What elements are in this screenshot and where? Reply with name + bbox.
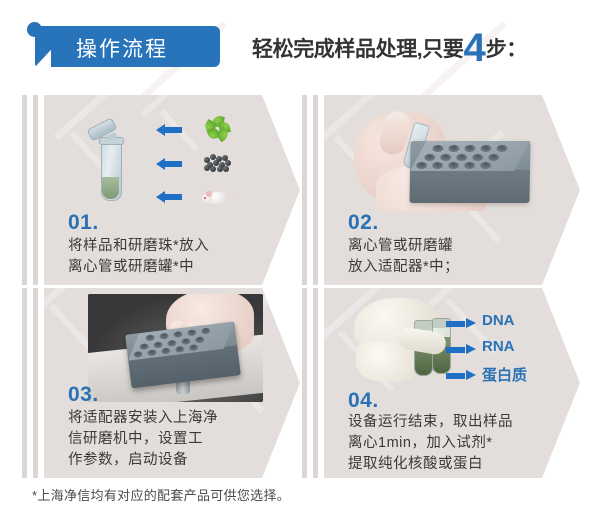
header-subtitle: 轻松完成样品处理,只要4步： — [252, 33, 527, 63]
step-card-01: 01. 将样品和研磨珠*放入 离心管或研磨罐*中 — [22, 95, 300, 285]
right-arrow-icon — [446, 370, 476, 381]
infographic-page: 操作流程 轻松完成样品处理,只要4步： — [0, 0, 600, 525]
card-accent-bar — [302, 95, 307, 285]
output-label-rna: RNA — [482, 338, 515, 355]
step-description: 设备运行结束，取出样品 离心1min，加入试剂* 提取纯化核酸或蛋白 — [348, 412, 513, 475]
grinding-beads-icon — [202, 152, 232, 172]
output-label-dna: DNA — [482, 312, 515, 329]
step-description: 将样品和研磨珠*放入 离心管或研磨罐*中 — [68, 236, 209, 278]
mouse-eye — [204, 197, 206, 199]
card-body: DNA RNA 蛋白质 04. 设备运行结束，取出样品 离心1min，加入试剂*… — [324, 288, 580, 478]
card-body: 01. 将样品和研磨珠*放入 离心管或研磨罐*中 — [44, 95, 300, 285]
header-banner-label: 操作流程 — [76, 33, 216, 63]
step-line: 将样品和研磨珠*放入 — [68, 236, 209, 257]
output-label-protein: 蛋白质 — [482, 364, 527, 385]
leaf-icon — [204, 116, 230, 140]
card-body: 02. 离心管或研磨罐 放入适配器*中； — [324, 95, 580, 285]
step-number: 04. — [348, 389, 379, 413]
left-arrow-icon — [156, 124, 182, 136]
step-line: 离心管或研磨罐*中 — [68, 257, 209, 278]
step-line: 放入适配器*中； — [348, 257, 459, 278]
adapter-block-top — [410, 141, 531, 171]
step-card-03: 03. 将适配器安装入上海净 信研磨机中，设置工 作参数，启动设备 — [22, 288, 300, 478]
left-arrow-icon — [156, 158, 182, 170]
card-body: 03. 将适配器安装入上海净 信研磨机中，设置工 作参数，启动设备 — [44, 288, 300, 478]
header-subtitle-before: 轻松完成样品处理,只要 — [252, 38, 463, 61]
step-card-04: DNA RNA 蛋白质 04. 设备运行结束，取出样品 离心1min，加入试剂*… — [302, 288, 580, 478]
centrifuge-tube-icon — [90, 117, 124, 203]
step-description: 离心管或研磨罐 放入适配器*中； — [348, 236, 459, 278]
step-number: 02. — [348, 211, 379, 235]
card-accent-bar — [313, 95, 318, 285]
right-arrow-icon — [446, 318, 476, 329]
step-line: 设备运行结束，取出样品 — [348, 412, 513, 433]
card-accent-bar — [33, 288, 38, 478]
footer-note: *上海净信均有对应的配套产品可供您选择。 — [32, 485, 290, 504]
card-accent-bar — [302, 288, 307, 478]
card-accent-bar — [22, 288, 27, 478]
step-number: 01. — [68, 211, 99, 235]
adapter-block-graphic — [409, 141, 530, 203]
card-accent-bar — [313, 288, 318, 478]
step-line: 将适配器安装入上海净 — [68, 408, 218, 429]
adapter-loading-photo — [354, 103, 534, 211]
grinder-install-photo — [88, 294, 263, 402]
step-number: 03. — [68, 383, 99, 407]
left-arrow-icon — [156, 191, 182, 203]
header-step-count: 4 — [463, 26, 485, 70]
card-accent-bar — [22, 95, 27, 285]
tube-contents — [102, 177, 119, 199]
step-description: 将适配器安装入上海净 信研磨机中，设置工 作参数，启动设备 — [68, 408, 218, 471]
right-arrow-icon — [446, 344, 476, 355]
step-line: 离心管或研磨罐 — [348, 236, 459, 257]
mouse-icon — [202, 188, 232, 206]
step-line: 作参数，启动设备 — [68, 450, 218, 471]
step-card-02: 02. 离心管或研磨罐 放入适配器*中； — [302, 95, 580, 285]
step-line: 提取纯化核酸或蛋白 — [348, 454, 513, 475]
card-accent-bar — [33, 95, 38, 285]
step-line: 信研磨机中，设置工 — [68, 429, 218, 450]
page-header: 操作流程 轻松完成样品处理,只要4步： — [0, 0, 600, 90]
header-subtitle-after: 步： — [486, 38, 527, 61]
step-line: 离心1min，加入试剂* — [348, 433, 513, 454]
mouse-ear — [206, 191, 212, 197]
